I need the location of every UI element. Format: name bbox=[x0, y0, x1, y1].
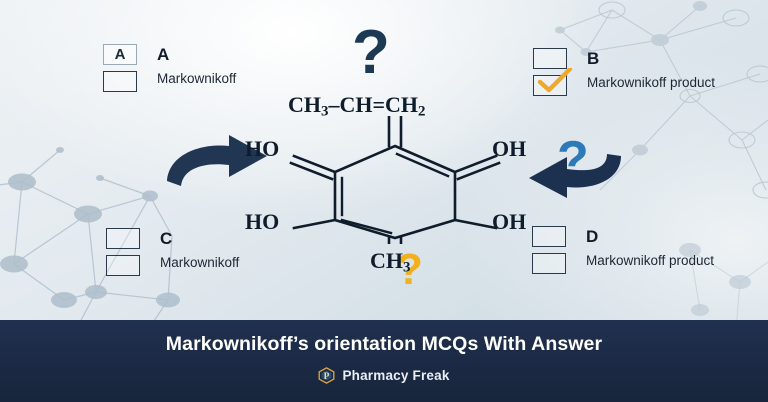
option-b-answer-row[interactable]: Markownikoff product bbox=[533, 75, 715, 96]
option-d-answer-row[interactable]: Markownikoff product bbox=[532, 253, 714, 274]
molecule-substituent-lower-left: HO bbox=[245, 209, 279, 235]
option-a-label: Markownikoff bbox=[157, 71, 236, 87]
option-c-letter-checkbox[interactable] bbox=[106, 228, 140, 249]
option-b[interactable]: B Markownikoff product bbox=[533, 48, 715, 96]
molecule-substituent-lower-right: OH bbox=[492, 209, 526, 235]
option-d[interactable]: D Markownikoff product bbox=[532, 226, 714, 274]
infographic-canvas: A A Markownikoff B Markownikoff product … bbox=[0, 0, 768, 402]
option-b-letter: B bbox=[587, 48, 600, 69]
brand-logo[interactable]: P Pharmacy Freak bbox=[318, 367, 449, 384]
option-c-answer-row[interactable]: Markownikoff bbox=[106, 255, 239, 276]
molecule-substituent-bottom: CH3 bbox=[370, 248, 410, 276]
brand-name: Pharmacy Freak bbox=[342, 368, 449, 383]
option-a-letter-row: A A bbox=[103, 44, 236, 65]
svg-text:P: P bbox=[324, 372, 330, 382]
option-d-letter: D bbox=[586, 226, 599, 247]
option-a-answer-row[interactable]: Markownikoff bbox=[103, 71, 236, 92]
option-a-letter-box: A bbox=[103, 44, 137, 65]
option-c-letter: C bbox=[160, 228, 173, 249]
option-a-checkbox[interactable] bbox=[103, 71, 137, 92]
option-c-letter-row: C bbox=[106, 228, 239, 249]
pharmacy-freak-logo-icon: P bbox=[318, 367, 335, 384]
option-c[interactable]: C Markownikoff bbox=[106, 228, 239, 276]
title-banner: Markownikoff’s orientation MCQs With Ans… bbox=[0, 320, 768, 402]
option-b-letter-checkbox[interactable] bbox=[533, 48, 567, 69]
option-b-letter-row: B bbox=[533, 48, 715, 69]
option-c-label: Markownikoff bbox=[160, 255, 239, 271]
question-mark-dark: ? bbox=[352, 22, 390, 84]
molecule-substituent-upper-left: HO bbox=[245, 136, 279, 162]
molecule-substituent-upper-right: OH bbox=[492, 136, 526, 162]
option-a-letter: A bbox=[157, 44, 170, 65]
option-d-label: Markownikoff product bbox=[586, 253, 714, 269]
banner-title: Markownikoff’s orientation MCQs With Ans… bbox=[166, 333, 602, 356]
option-d-letter-row: D bbox=[532, 226, 714, 247]
checkmark-icon bbox=[536, 68, 574, 94]
option-a[interactable]: A A Markownikoff bbox=[103, 44, 236, 92]
chemical-structure: CH3–CH=CH2 bbox=[250, 92, 540, 262]
option-c-checkbox[interactable] bbox=[106, 255, 140, 276]
option-b-label: Markownikoff product bbox=[587, 75, 715, 91]
